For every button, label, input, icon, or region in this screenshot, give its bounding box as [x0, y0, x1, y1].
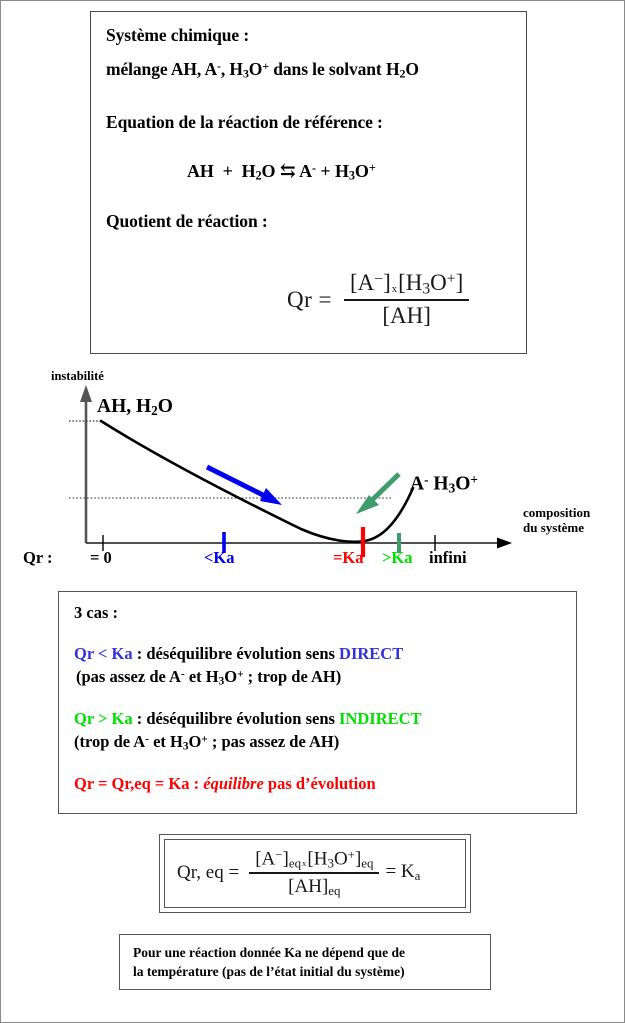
note-line-2: la température (pas de l’état initial du… [133, 962, 405, 981]
x-axis-label: composition du système [523, 505, 590, 535]
mixture-o-1: O [249, 59, 263, 79]
reactant-h2o-o: O [262, 161, 276, 181]
ka-formula-rhs: = Ka [385, 861, 420, 884]
ka-formula: Qr, eq = [A−]eqx[H3O+]eq [AH]eq = Ka [177, 847, 420, 899]
case-1-direction: DIRECT [339, 644, 403, 663]
curve-end-o: O [455, 474, 470, 495]
instability-graph: instabilité AH, H2O A- H3O+ composition … [1, 357, 625, 589]
reaction-quotient-title: Quotient de réaction : [106, 211, 268, 232]
ka-num-b-eq: eq [361, 855, 373, 870]
x-axis-label-line2: du système [523, 520, 590, 535]
curve-start-end: O [158, 396, 173, 417]
h3o-charge: + [262, 59, 269, 73]
system-title: Système chimique : [106, 25, 249, 46]
product-h3o-base: H [335, 161, 349, 181]
ka-num-a-charge: − [275, 847, 282, 862]
indirect-evolution-arrow [356, 474, 399, 514]
system-mixture-line: mélange AH, A-, H3O+ dans le solvant H2O [106, 59, 419, 82]
curve-start-base: AH, H [97, 396, 151, 417]
ka-rhs-sub: a [415, 868, 421, 883]
case-2-detail-mid: et H [149, 732, 183, 751]
mixture-text-mid: , H [221, 59, 243, 79]
curve-end-base: A [410, 474, 424, 495]
note-line-1: Pour une réaction donnée Ka ne dépend qu… [133, 943, 405, 962]
ka-num-b-open: [H [307, 848, 327, 869]
mixture-text-post: dans le solvant H [269, 59, 399, 79]
case-2-detail-post: ; pas assez de AH) [208, 732, 340, 751]
system-description-box: Système chimique : mélange AH, A-, H3O+ … [90, 11, 527, 354]
qr-num-separator: x [391, 284, 398, 295]
ka-den-eq: eq [328, 883, 340, 898]
case-3-prefix: Qr = Qr,eq = Ka : [74, 774, 203, 793]
product-h3o-charge: + [369, 161, 376, 175]
y-axis-label: instabilité [51, 369, 104, 384]
product-a-charge: - [312, 161, 316, 175]
case-2-detail-pre: (trop de A [74, 732, 145, 751]
qr-num-b-o: O [430, 270, 447, 295]
tick-label-gt-ka: >Ka [382, 548, 413, 568]
product-a-base: A [299, 161, 312, 181]
case-3-suffix: pas d’évolution [264, 774, 376, 793]
case-2-main: Qr > Ka : déséquilibre évolution sens IN… [74, 709, 422, 729]
note-text: Pour une réaction donnée Ka ne dépend qu… [133, 943, 405, 981]
tick-label-infini: infini [429, 548, 467, 568]
case-1-detail: (pas assez de A- et H3O+ ; trop de AH) [76, 667, 341, 687]
tick-label-lt-ka: <Ka [204, 548, 235, 568]
tick-label-zero: = 0 [90, 548, 112, 568]
qr-num-b-sub: 3 [422, 280, 430, 297]
qr-numerator: [A−]x[H3O+] [344, 270, 469, 299]
curve-start-sub: 2 [151, 403, 158, 418]
case-2-condition: Qr > Ka [74, 709, 133, 728]
qr-formula: Qr = [A−]x[H3O+] [AH] [287, 270, 469, 329]
case-1-main: Qr < Ka : déséquilibre évolution sens DI… [74, 644, 403, 664]
ka-temperature-note-box: Pour une réaction donnée Ka ne dépend qu… [119, 934, 491, 990]
qr-num-b-charge: + [447, 270, 456, 287]
case-1-detail-o: O [224, 667, 237, 686]
reaction-equation: AH + H2O ⇆ A- + H3O+ [187, 160, 376, 184]
curve-end-charge-2: + [470, 472, 478, 487]
plus-sign-2: + [320, 161, 330, 181]
case-3-emphasis: équilibre [203, 774, 264, 793]
reactant-h2o-base: H [242, 161, 256, 181]
cases-title: 3 cas : [74, 603, 118, 623]
ka-fraction: [A−]eqx[H3O+]eq [AH]eq [249, 847, 379, 899]
case-2-direction: INDIRECT [339, 709, 422, 728]
ka-numerator: [A−]eqx[H3O+]eq [249, 847, 379, 872]
ka-num-a-eq: eq [289, 855, 301, 870]
ka-num-a-open: [A [255, 848, 275, 869]
reaction-equation-title: Equation de la réaction de référence : [106, 112, 383, 133]
ka-rhs-base: = K [385, 861, 414, 882]
case-1-condition: Qr < Ka [74, 644, 133, 663]
ka-formula-lhs: Qr, eq = [177, 862, 239, 884]
mixture-text-pre: mélange AH, A [106, 59, 217, 79]
case-1-detail-pre: (pas assez de A [76, 667, 181, 686]
qr-fraction: [A−]x[H3O+] [AH] [344, 270, 469, 329]
curve-end-mid: H [429, 474, 449, 495]
equilibrium-arrow-icon: ⇆ [280, 161, 296, 182]
ka-num-b-o: O [334, 848, 348, 869]
case-2-middle: : déséquilibre évolution sens [133, 709, 339, 728]
curve-start-label: AH, H2O [97, 396, 173, 419]
ka-denominator: [AH]eq [282, 874, 346, 899]
case-1-detail-post: ; trop de AH) [243, 667, 341, 686]
ka-formula-box-outer: Qr, eq = [A−]eqx[H3O+]eq [AH]eq = Ka [159, 834, 471, 913]
qr-num-b-open: [H [398, 270, 422, 295]
case-2-detail-o: O [188, 732, 201, 751]
tick-label-eq-ka: =Ka [333, 548, 364, 568]
qr-num-a-open: [A [350, 270, 374, 295]
qr-formula-lhs: Qr = [287, 287, 332, 313]
plus-sign-1: + [223, 161, 233, 181]
reactant-ah: AH [187, 161, 214, 181]
product-h3o-o: O [355, 161, 369, 181]
case-2-detail: (trop de A- et H3O+ ; pas assez de AH) [74, 732, 339, 752]
curve-end-label: A- H3O+ [410, 472, 478, 496]
x-axis-label-line1: composition [523, 505, 590, 520]
qr-num-a-close: ] [383, 270, 391, 295]
three-cases-box: 3 cas : Qr < Ka : déséquilibre évolution… [58, 591, 577, 814]
case-1-detail-mid: et H [185, 667, 219, 686]
ka-num-b-charge: + [348, 847, 355, 862]
qr-num-b-close: ] [456, 270, 464, 295]
x-axis-arrowhead [497, 538, 512, 549]
qr-denominator: [AH] [376, 301, 437, 329]
qr-axis-prefix: Qr : [23, 548, 52, 568]
case-3-main: Qr = Qr,eq = Ka : équilibre pas d’évolut… [74, 774, 376, 794]
instability-curve [101, 421, 413, 542]
mixture-o-2: O [405, 59, 419, 79]
diagram-page: Système chimique : mélange AH, A-, H3O+ … [0, 0, 625, 1023]
y-axis-arrowhead [80, 385, 92, 402]
case-1-middle: : déséquilibre évolution sens [133, 644, 339, 663]
ka-den-text: [AH] [288, 876, 328, 897]
qr-num-a-charge: − [374, 270, 383, 287]
